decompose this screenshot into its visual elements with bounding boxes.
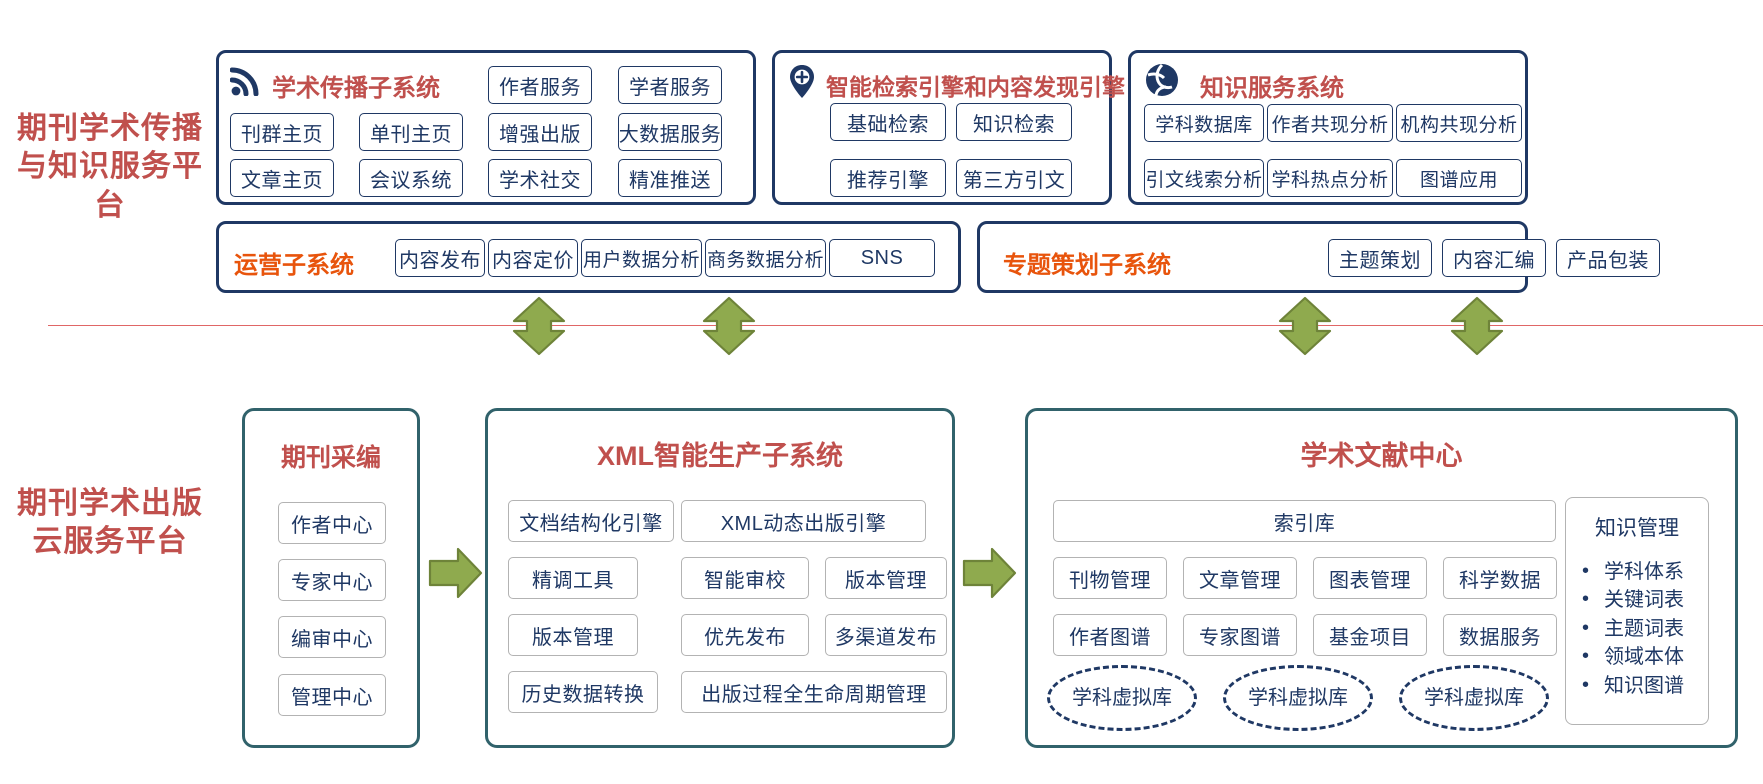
chip-version-management-a[interactable]: 版本管理 <box>825 557 947 599</box>
chip-precise-push[interactable]: 精准推送 <box>618 159 722 197</box>
chip-citation-clue-analysis[interactable]: 引文线索分析 <box>1144 159 1264 197</box>
chip-business-data-analysis[interactable]: 商务数据分析 <box>705 239 826 277</box>
chip-fund-project[interactable]: 基金项目 <box>1313 614 1427 656</box>
virtual-library-3[interactable]: 学科虚拟库 <box>1399 665 1549 731</box>
chip-product-packaging[interactable]: 产品包装 <box>1556 239 1660 277</box>
chip-content-pricing[interactable]: 内容定价 <box>488 239 578 277</box>
group-title-xml-production: XML智能生产子系统 <box>485 434 955 473</box>
bidirectional-arrow-3 <box>1276 296 1334 356</box>
chip-xml-dynamic-publishing-engine[interactable]: XML动态出版引擎 <box>681 500 926 542</box>
chip-article-homepage[interactable]: 文章主页 <box>230 159 334 197</box>
chip-version-management-b[interactable]: 版本管理 <box>508 614 638 656</box>
chip-index-library[interactable]: 索引库 <box>1053 500 1556 542</box>
platform-label-top: 期刊学术传播与知识服务平台 <box>10 110 210 225</box>
chip-user-data-analysis[interactable]: 用户数据分析 <box>581 239 702 277</box>
chip-figure-table-management[interactable]: 图表管理 <box>1313 557 1427 599</box>
chip-basic-search[interactable]: 基础检索 <box>830 103 946 141</box>
chip-author-center[interactable]: 作者中心 <box>278 502 386 544</box>
knowledge-management-title: 知识管理 <box>1566 512 1708 542</box>
chip-article-management[interactable]: 文章管理 <box>1183 557 1297 599</box>
group-title-search-engine: 智能检索引擎和内容发现引擎 <box>826 68 1125 102</box>
km-list-item[interactable]: 领域本体 <box>1580 643 1708 671</box>
group-title-topic-planning: 专题策划子系统 <box>1003 245 1171 280</box>
chip-review-center[interactable]: 编审中心 <box>278 616 386 658</box>
chip-publishing-lifecycle-management[interactable]: 出版过程全生命周期管理 <box>681 671 947 713</box>
chip-historical-data-conversion[interactable]: 历史数据转换 <box>508 671 658 713</box>
group-title-operations: 运营子系统 <box>234 245 354 280</box>
chip-fine-tuning-tool[interactable]: 精调工具 <box>508 557 638 599</box>
chip-journal-group-homepage[interactable]: 刊群主页 <box>230 113 334 151</box>
chip-knowledge-search[interactable]: 知识检索 <box>956 103 1072 141</box>
group-title-acquisition: 期刊采编 <box>261 438 401 474</box>
location-pin-plus-icon <box>788 64 816 100</box>
chip-author-graph[interactable]: 作者图谱 <box>1053 614 1167 656</box>
chip-multichannel-publishing[interactable]: 多渠道发布 <box>825 614 947 656</box>
chip-doc-structuring-engine[interactable]: 文档结构化引擎 <box>508 500 674 542</box>
km-list-item[interactable]: 关键词表 <box>1580 586 1708 614</box>
chip-recommendation-engine[interactable]: 推荐引擎 <box>830 159 946 197</box>
chip-graph-application[interactable]: 图谱应用 <box>1396 159 1522 197</box>
chip-sns[interactable]: SNS <box>829 239 935 277</box>
globe-icon <box>1144 62 1180 98</box>
chip-theme-planning[interactable]: 主题策划 <box>1328 239 1432 277</box>
chip-single-journal-homepage[interactable]: 单刊主页 <box>359 113 463 151</box>
chip-discipline-hotspot-analysis[interactable]: 学科热点分析 <box>1267 159 1393 197</box>
group-title-knowledge-service: 知识服务系统 <box>1200 68 1344 103</box>
chip-management-center[interactable]: 管理中心 <box>278 674 386 716</box>
virtual-library-2[interactable]: 学科虚拟库 <box>1223 665 1373 731</box>
chip-data-service[interactable]: 数据服务 <box>1443 614 1557 656</box>
chip-conference-system[interactable]: 会议系统 <box>359 159 463 197</box>
chip-expert-graph[interactable]: 专家图谱 <box>1183 614 1297 656</box>
rss-icon <box>230 66 264 96</box>
km-list-item[interactable]: 知识图谱 <box>1580 672 1708 700</box>
chip-content-compilation[interactable]: 内容汇编 <box>1442 239 1546 277</box>
chip-scientific-data[interactable]: 科学数据 <box>1443 557 1557 599</box>
chip-content-publishing[interactable]: 内容发布 <box>395 239 485 277</box>
chip-enhanced-publishing[interactable]: 增强出版 <box>488 113 592 151</box>
flow-arrow-xml-to-literature <box>962 547 1017 599</box>
km-list-item[interactable]: 学科体系 <box>1580 558 1708 586</box>
chip-discipline-database[interactable]: 学科数据库 <box>1144 104 1264 142</box>
flow-arrow-acquisition-to-xml <box>428 547 483 599</box>
knowledge-management-panel: 知识管理 学科体系 关键词表 主题词表 领域本体 知识图谱 <box>1565 497 1709 725</box>
km-list-item[interactable]: 主题词表 <box>1580 615 1708 643</box>
chip-institution-cooccurrence-analysis[interactable]: 机构共现分析 <box>1396 104 1522 142</box>
platform-label-bottom: 期刊学术出版云服务平台 <box>10 485 210 562</box>
chip-academic-social[interactable]: 学术社交 <box>488 159 592 197</box>
chip-journal-management[interactable]: 刊物管理 <box>1053 557 1167 599</box>
chip-expert-center[interactable]: 专家中心 <box>278 559 386 601</box>
group-title-literature-center: 学术文献中心 <box>1025 434 1738 473</box>
architecture-diagram: 期刊学术传播与知识服务平台 期刊学术出版云服务平台 学术传播子系统 作者服务 学… <box>0 0 1763 784</box>
virtual-library-1[interactable]: 学科虚拟库 <box>1047 665 1197 731</box>
bidirectional-arrow-4 <box>1448 296 1506 356</box>
group-title-dissemination: 学术传播子系统 <box>272 68 440 103</box>
bidirectional-arrow-1 <box>510 296 568 356</box>
chip-author-service[interactable]: 作者服务 <box>488 66 592 104</box>
chip-third-party-citation[interactable]: 第三方引文 <box>956 159 1072 197</box>
knowledge-management-list: 学科体系 关键词表 主题词表 领域本体 知识图谱 <box>1566 558 1708 700</box>
chip-intelligent-proofreading[interactable]: 智能审校 <box>681 557 809 599</box>
chip-priority-publishing[interactable]: 优先发布 <box>681 614 809 656</box>
bidirectional-arrow-2 <box>700 296 758 356</box>
chip-author-cooccurrence-analysis[interactable]: 作者共现分析 <box>1267 104 1393 142</box>
chip-big-data-service[interactable]: 大数据服务 <box>618 113 722 151</box>
chip-scholar-service[interactable]: 学者服务 <box>618 66 722 104</box>
